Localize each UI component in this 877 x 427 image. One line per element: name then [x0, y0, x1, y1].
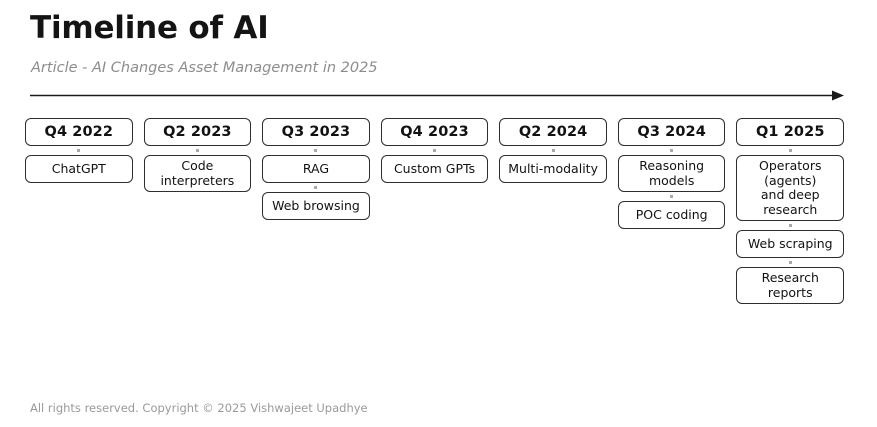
- connector-dot: [144, 146, 252, 155]
- footer-copyright: All rights reserved. Copyright © 2025 Vi…: [30, 401, 368, 415]
- event-box[interactable]: ChatGPT: [25, 155, 133, 183]
- event-line: Operators (agents): [741, 159, 839, 188]
- event-box[interactable]: Multi-modality: [499, 155, 607, 183]
- event-line: Web scraping: [748, 237, 833, 252]
- period-box[interactable]: Q3 2023: [262, 118, 370, 146]
- timeline-columns: Q4 2022 ChatGPT Q2 2023 Code interpreter…: [25, 118, 844, 304]
- period-box[interactable]: Q2 2023: [144, 118, 252, 146]
- event-box[interactable]: POC coding: [618, 201, 726, 229]
- connector-dot: [618, 192, 726, 201]
- event-line: Code interpreters: [149, 159, 247, 188]
- event-line: Web browsing: [272, 199, 360, 214]
- event-box[interactable]: Web scraping: [736, 230, 844, 258]
- period-box[interactable]: Q1 2025: [736, 118, 844, 146]
- period-box[interactable]: Q4 2022: [25, 118, 133, 146]
- connector-dot: [499, 146, 607, 155]
- timeline-column-q1-2025: Q1 2025 Operators (agents) and deep rese…: [736, 118, 844, 304]
- connector-dot: [736, 258, 844, 267]
- event-line: ChatGPT: [52, 162, 106, 177]
- timeline-column-q2-2024: Q2 2024 Multi-modality: [499, 118, 607, 183]
- period-box[interactable]: Q3 2024: [618, 118, 726, 146]
- connector-dot: [618, 146, 726, 155]
- event-box[interactable]: Web browsing: [262, 192, 370, 220]
- timeline-column-q4-2023: Q4 2023 Custom GPTs: [381, 118, 489, 183]
- connector-dot: [736, 146, 844, 155]
- connector-dot: [381, 146, 489, 155]
- event-line: Custom GPTs: [394, 162, 475, 177]
- page-subtitle: Article - AI Changes Asset Management in…: [31, 58, 378, 78]
- period-box[interactable]: Q2 2024: [499, 118, 607, 146]
- event-box[interactable]: Reasoning models: [618, 155, 726, 192]
- event-line: Research reports: [741, 271, 839, 300]
- event-box[interactable]: Operators (agents) and deep research: [736, 155, 844, 221]
- connector-dot: [262, 183, 370, 192]
- period-box[interactable]: Q4 2023: [381, 118, 489, 146]
- event-line: Multi-modality: [508, 162, 598, 177]
- event-line: POC coding: [636, 208, 708, 223]
- connector-dot: [25, 146, 133, 155]
- event-line: RAG: [303, 162, 329, 177]
- event-line: Reasoning models: [623, 159, 721, 188]
- timeline-column-q3-2024: Q3 2024 Reasoning models POC coding: [618, 118, 726, 229]
- event-box[interactable]: Research reports: [736, 267, 844, 304]
- event-box[interactable]: RAG: [262, 155, 370, 183]
- event-box[interactable]: Code interpreters: [144, 155, 252, 192]
- event-line: and deep research: [741, 188, 839, 217]
- event-box[interactable]: Custom GPTs: [381, 155, 489, 183]
- connector-dot: [262, 146, 370, 155]
- timeline-axis-arrow: [28, 86, 848, 106]
- page-title: Timeline of AI: [30, 8, 269, 48]
- timeline-column-q3-2023: Q3 2023 RAG Web browsing: [262, 118, 370, 220]
- connector-dot: [736, 221, 844, 230]
- timeline-column-q2-2023: Q2 2023 Code interpreters: [144, 118, 252, 192]
- timeline-column-q4-2022: Q4 2022 ChatGPT: [25, 118, 133, 183]
- arrow-right-icon: [28, 86, 848, 106]
